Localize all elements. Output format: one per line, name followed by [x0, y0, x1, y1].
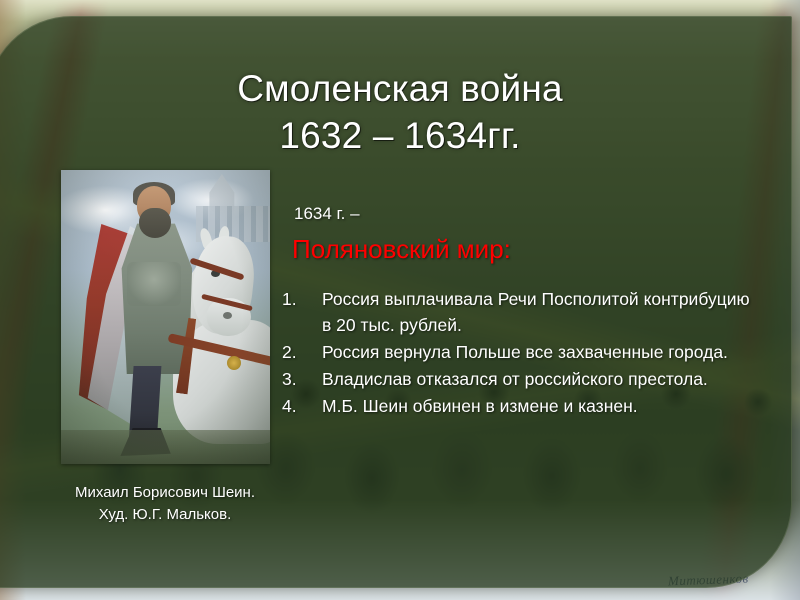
presentation-slide: Митюшенков Смоленская война 1632 – 1634г… — [0, 0, 800, 600]
portrait-vignette — [61, 170, 270, 464]
list-item-number: 2. — [282, 339, 306, 365]
list-item-number: 3. — [282, 366, 306, 392]
list-item-text: М.Б. Шеин обвинен в измене и казнен. — [322, 396, 638, 416]
list-item: 2. Россия вернула Польше все захваченные… — [280, 339, 752, 365]
treaty-name-heading: Поляновский мир: — [292, 233, 511, 265]
slide-title: Смоленская война 1632 – 1634гг. — [90, 65, 710, 159]
list-item: 3. Владислав отказался от российского пр… — [280, 366, 752, 392]
shein-portrait-image — [61, 170, 270, 464]
portrait-caption: Михаил Борисович Шеин. Худ. Ю.Г. Мальков… — [24, 482, 306, 526]
treaty-year-label: 1634 г. – — [294, 203, 360, 225]
list-item-number: 1. — [282, 286, 306, 312]
list-item-text: Россия выплачивала Речи Посполитой контр… — [322, 289, 750, 335]
list-item-text: Владислав отказался от российского прест… — [322, 369, 708, 389]
portrait-caption-line-1: Михаил Борисович Шеин. — [75, 484, 255, 501]
list-item-text: Россия вернула Польше все захваченные го… — [322, 342, 728, 362]
portrait-caption-line-2: Худ. Ю.Г. Мальков. — [24, 504, 306, 526]
list-item: 4. М.Б. Шеин обвинен в измене и казнен. — [280, 393, 752, 419]
list-item-number: 4. — [282, 393, 306, 419]
list-item: 1. Россия выплачивала Речи Посполитой ко… — [280, 286, 752, 338]
treaty-terms-list: 1. Россия выплачивала Речи Посполитой ко… — [280, 286, 752, 420]
